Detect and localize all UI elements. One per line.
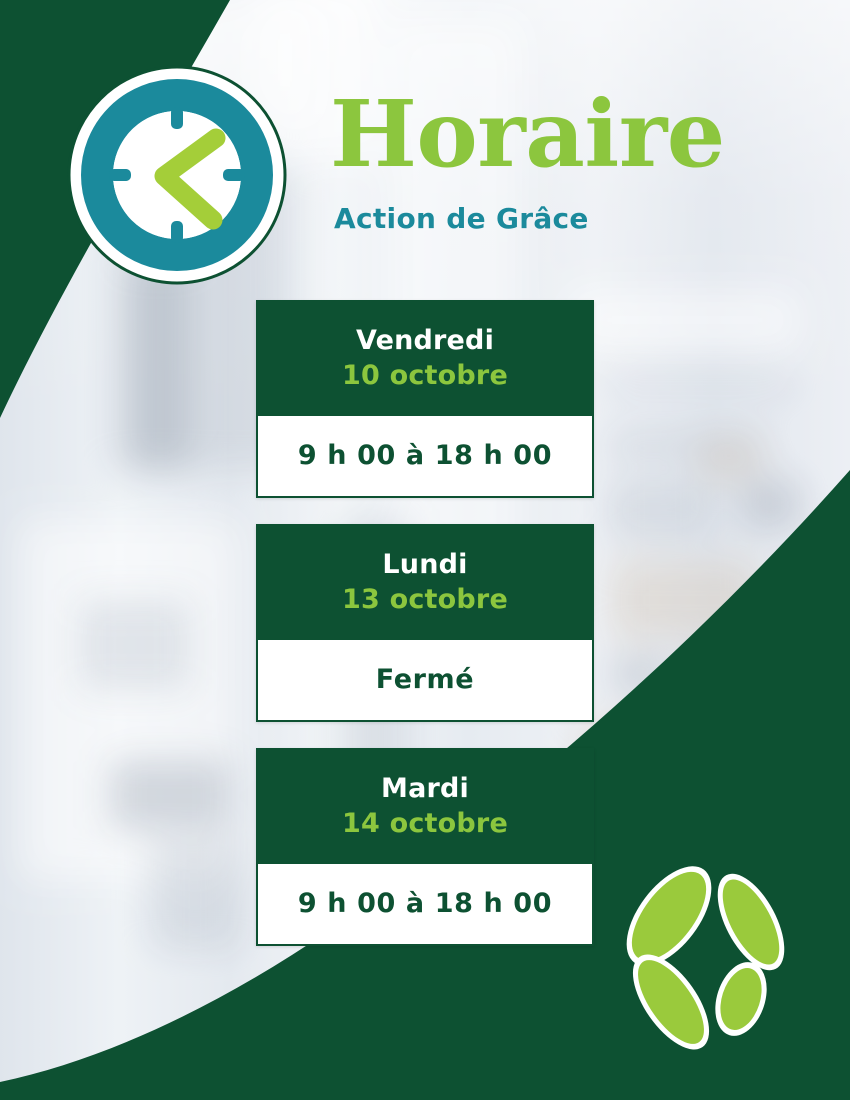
schedule-day: Mardi xyxy=(266,772,584,806)
page-title: Horaire xyxy=(330,86,800,182)
clock-tick-12 xyxy=(171,107,183,129)
schedule-card-body: 9 h 00 à 18 h 00 xyxy=(256,416,594,498)
schedule-date: 13 octobre xyxy=(266,582,584,618)
schedule-hours: 9 h 00 à 18 h 00 xyxy=(266,440,584,472)
schedule-date: 10 octobre xyxy=(266,358,584,394)
page-subtitle: Action de Grâce xyxy=(334,202,800,236)
schedule-day: Lundi xyxy=(266,548,584,582)
schedule-hours: 9 h 00 à 18 h 00 xyxy=(266,888,584,920)
clock-icon xyxy=(66,64,288,286)
schedule-card-list: Vendredi 10 octobre 9 h 00 à 18 h 00 Lun… xyxy=(256,300,594,972)
clock-tick-3 xyxy=(223,169,245,181)
schedule-card: Lundi 13 octobre Fermé xyxy=(256,524,594,722)
clock-tick-9 xyxy=(109,169,131,181)
schedule-hours: Fermé xyxy=(266,664,584,696)
schedule-day: Vendredi xyxy=(266,324,584,358)
schedule-card: Mardi 14 octobre 9 h 00 à 18 h 00 xyxy=(256,748,594,946)
schedule-card-body: Fermé xyxy=(256,640,594,722)
schedule-card: Vendredi 10 octobre 9 h 00 à 18 h 00 xyxy=(256,300,594,498)
clock-tick-6 xyxy=(171,221,183,243)
schedule-card-body: 9 h 00 à 18 h 00 xyxy=(256,864,594,946)
butterfly-petal-upper-left xyxy=(612,858,728,980)
schedule-date: 14 octobre xyxy=(266,806,584,842)
butterfly-logo-icon xyxy=(612,858,802,1058)
schedule-card-header: Vendredi 10 octobre xyxy=(256,300,594,416)
schedule-card-header: Mardi 14 octobre xyxy=(256,748,594,864)
schedule-poster: Horaire Action de Grâce Vendredi 10 octo… xyxy=(0,0,850,1100)
schedule-card-header: Lundi 13 octobre xyxy=(256,524,594,640)
poster-header: Horaire Action de Grâce xyxy=(330,86,800,236)
